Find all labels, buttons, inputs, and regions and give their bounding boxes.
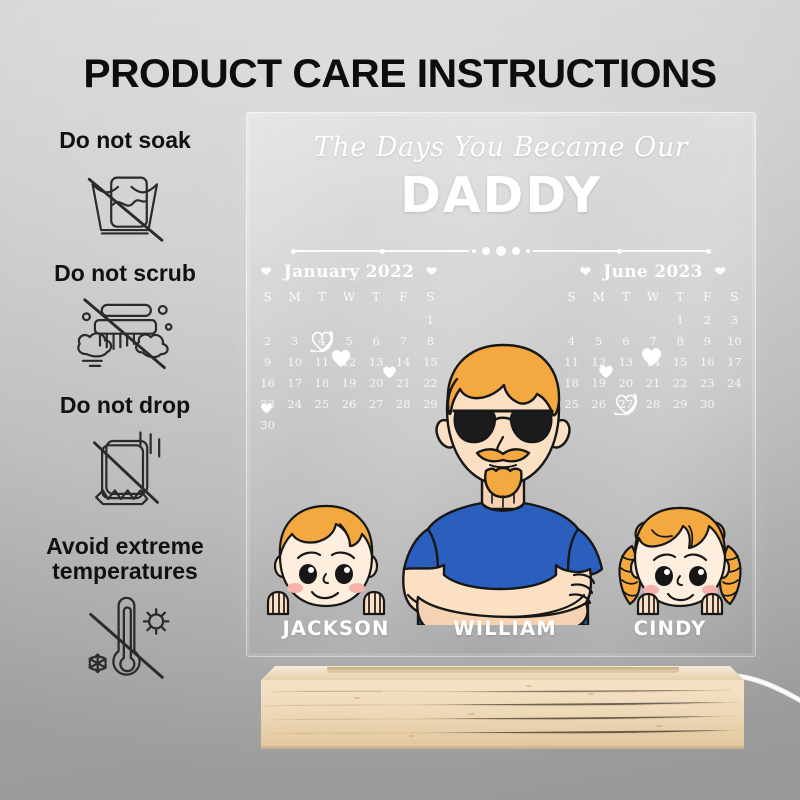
care-label-line2: temperatures	[0, 559, 250, 584]
calendar-day: 14	[639, 354, 666, 371]
calendar-weekday: S	[721, 290, 748, 308]
decorative-divider	[291, 245, 711, 257]
character-name-father: WILLIAM	[431, 617, 579, 640]
calendar-day: 12	[335, 354, 362, 371]
calendar-day: 30	[694, 396, 721, 413]
calendar-day: 2	[254, 333, 281, 350]
calendar-blank	[335, 312, 362, 329]
no-extreme-temperature-icon	[68, 590, 181, 686]
calendar-weekday: T	[612, 290, 639, 308]
divider-dot	[472, 249, 476, 253]
no-soak-icon	[74, 159, 176, 247]
calendar-day: 16	[694, 354, 721, 371]
plaque-headline: The Days You Became Our DADDY	[246, 132, 756, 224]
calendar-day: 30	[254, 417, 281, 434]
calendar-day: 24	[721, 375, 748, 392]
calendar-day: 9	[694, 333, 721, 350]
calendar-weekday: S	[558, 290, 585, 308]
calendar-day: 17	[281, 375, 308, 392]
calendar-day: 26	[335, 396, 362, 413]
calendar-weekday: T	[667, 290, 694, 308]
care-item-do-not-scrub: Do not scrub	[0, 261, 250, 370]
calendar-day: 25	[308, 396, 335, 413]
calendar-day: 24	[281, 396, 308, 413]
calendar-day-highlighted: 4	[308, 333, 335, 350]
calendar-day: 5	[335, 333, 362, 350]
calendar-day: 29	[667, 396, 694, 413]
calendar-blank	[639, 312, 666, 329]
divider-dot	[496, 246, 506, 256]
calendar-day: 10	[721, 333, 748, 350]
calendar-weekday: W	[639, 290, 666, 308]
calendar-weekday: M	[585, 290, 612, 308]
heart-icon: ❤	[715, 266, 726, 279]
divider-dot	[526, 249, 530, 253]
heart-outline-icon	[310, 329, 334, 351]
calendar-day: 15	[667, 354, 694, 371]
no-scrub-icon	[61, 293, 188, 371]
divider-segment	[622, 250, 706, 252]
calendar-weekday: S	[417, 290, 444, 308]
calendar-weekday: S	[254, 290, 281, 308]
heart-icon: ❤	[426, 266, 437, 279]
calendar-month-label: June 2023	[603, 262, 703, 282]
calendar-weekday: W	[335, 290, 362, 308]
calendar-day: 23	[694, 375, 721, 392]
page-title: PRODUCT CARE INSTRUCTIONS	[0, 52, 800, 97]
character-name-girl: CINDY	[600, 617, 740, 640]
care-item-do-not-drop: Do not drop	[0, 393, 250, 516]
calendar-day: 8	[667, 333, 694, 350]
calendar-weekday: T	[308, 290, 335, 308]
calendar-day: 17	[721, 354, 748, 371]
care-label: Do not drop	[0, 393, 250, 418]
care-item-avoid-extreme-temperatures: Avoid extreme temperatures	[0, 534, 250, 687]
calendar-title: ❤ June 2023 ❤	[558, 262, 748, 282]
calendar-day: 18	[308, 375, 335, 392]
calendar-day: 28	[639, 396, 666, 413]
character-father	[378, 325, 628, 625]
heart-icon: ❤	[580, 266, 591, 279]
care-label-line1: Avoid extreme	[0, 534, 250, 559]
calendar-weekday: F	[390, 290, 417, 308]
calendar-day: 21	[639, 375, 666, 392]
acrylic-plaque: The Days You Became Our DADDY ❤ January …	[246, 112, 756, 657]
character-boy	[262, 494, 390, 624]
wooden-led-base	[261, 650, 744, 762]
divider-segment	[533, 250, 617, 252]
calendar-day: 10	[281, 354, 308, 371]
calendar-day: 3	[281, 333, 308, 350]
calendar-day: 19	[335, 375, 362, 392]
care-instructions-list: Do not soak Do not scrub	[0, 128, 250, 692]
calendar-month-label: January 2022	[284, 262, 414, 282]
care-item-do-not-soak: Do not soak	[0, 128, 250, 247]
heart-icon: ❤	[261, 266, 272, 279]
calendar-weekday: T	[363, 290, 390, 308]
headline-script: The Days You Became Our	[246, 132, 756, 163]
no-drop-icon	[74, 424, 176, 516]
calendar-day: 3	[721, 312, 748, 329]
calendar-day: 1	[667, 312, 694, 329]
divider-endcap-right	[706, 249, 711, 254]
calendar-title: ❤ January 2022 ❤	[254, 262, 444, 282]
calendar-day: 7	[639, 333, 666, 350]
calendar-blank	[281, 312, 308, 329]
product-care-poster: PRODUCT CARE INSTRUCTIONS Do not soak Do…	[0, 0, 800, 800]
divider-segment	[296, 250, 380, 252]
character-girl	[616, 494, 744, 624]
character-name-boy: JACKSON	[266, 617, 406, 640]
divider-segment	[385, 250, 469, 252]
divider-dot	[482, 247, 490, 255]
calendar-day: 23	[254, 396, 281, 413]
calendar-blank	[308, 312, 335, 329]
power-cable	[735, 672, 800, 712]
calendar-day: 11	[308, 354, 335, 371]
headline-display: DADDY	[246, 167, 756, 224]
calendar-blank	[254, 312, 281, 329]
calendar-weekday: M	[281, 290, 308, 308]
calendar-day: 2	[694, 312, 721, 329]
divider-dot	[512, 247, 520, 255]
calendar-weekday: F	[694, 290, 721, 308]
calendar-day: 9	[254, 354, 281, 371]
calendar-day: 22	[667, 375, 694, 392]
care-label: Do not soak	[0, 128, 250, 153]
calendar-day: 16	[254, 375, 281, 392]
care-label: Do not scrub	[0, 261, 250, 286]
